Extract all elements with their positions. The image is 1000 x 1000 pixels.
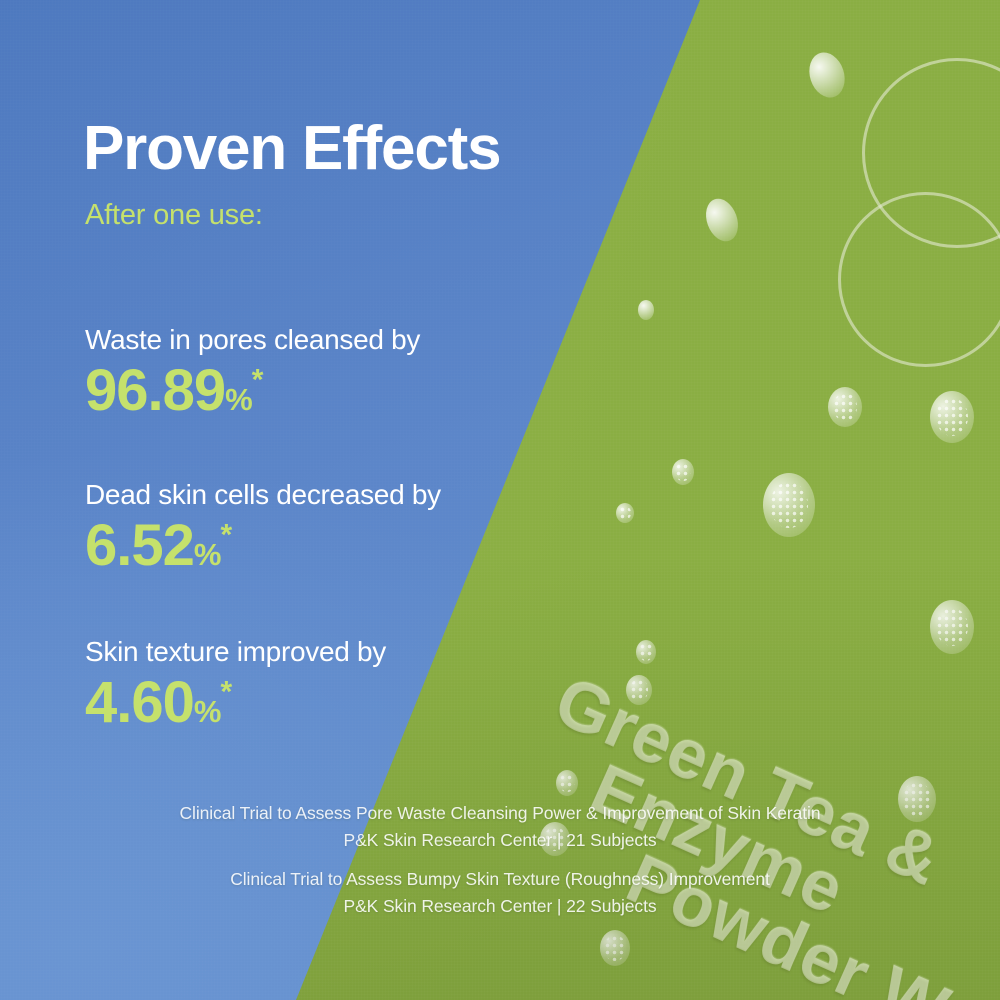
stat-value: 4.60%* (85, 674, 231, 732)
page-subtitle: After one use: (85, 199, 263, 232)
stat-number: 4.60 (85, 670, 194, 735)
stat-number: 6.52 (85, 513, 194, 578)
stat-block-dead-skin-cells: Dead skin cells decreased by 6.52%* (85, 480, 441, 575)
stat-value: 96.89%* (85, 362, 262, 420)
page-title: Proven Effects (83, 118, 500, 180)
footnote-source-1: P&K Skin Research Center | 21 Subjects (0, 827, 1000, 854)
stat-unit: % (194, 537, 221, 572)
footnote-source-2: P&K Skin Research Center | 22 Subjects (0, 893, 1000, 920)
stat-block-skin-texture: Skin texture improved by 4.60%* (85, 637, 386, 732)
stat-block-waste-in-pores: Waste in pores cleansed by 96.89%* (85, 325, 420, 420)
stat-value: 6.52%* (85, 517, 231, 575)
stat-footnote-marker: * (220, 518, 231, 551)
stat-number: 96.89 (85, 358, 225, 423)
footnote-study-2: Clinical Trial to Assess Bumpy Skin Text… (0, 866, 1000, 893)
stat-label: Skin texture improved by (85, 637, 386, 668)
footnote-study-1: Clinical Trial to Assess Pore Waste Clea… (0, 800, 1000, 827)
stat-footnote-marker: * (252, 363, 263, 396)
stat-label: Dead skin cells decreased by (85, 480, 441, 511)
promo-image: Green Tea & Enzyme Powder Wash Proven Ef… (0, 0, 1000, 1000)
footnote-divider (0, 854, 1000, 866)
stat-footnote-marker: * (220, 675, 231, 708)
stat-label: Waste in pores cleansed by (85, 325, 420, 356)
copy-layer: Proven Effects After one use: Waste in p… (0, 0, 1000, 1000)
footnotes: Clinical Trial to Assess Pore Waste Clea… (0, 800, 1000, 921)
stat-unit: % (225, 382, 252, 417)
stat-unit: % (194, 694, 221, 729)
